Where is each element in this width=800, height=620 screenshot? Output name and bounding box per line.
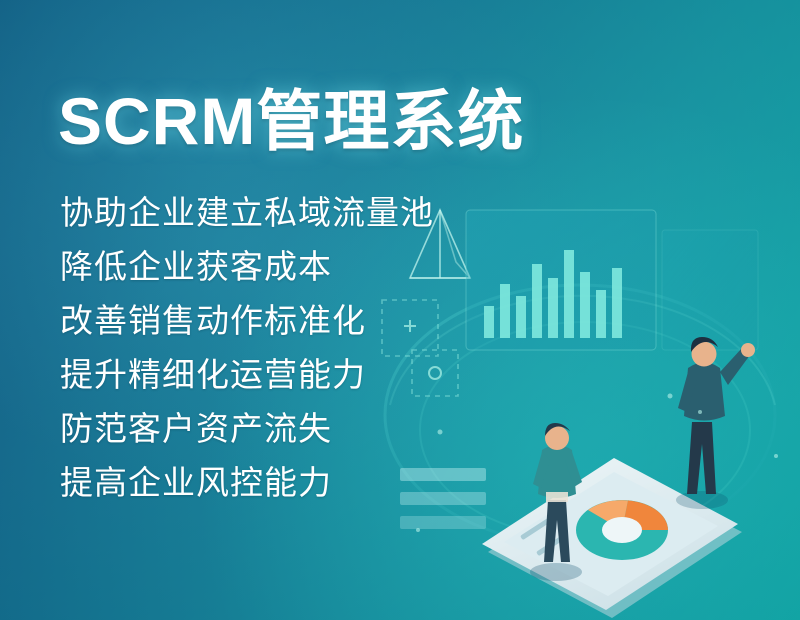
scrm-promo-banner: SCRM管理系统 协助企业建立私域流量池 降低企业获客成本 改善销售动作标准化 …: [0, 0, 800, 620]
feature-item: 协助企业建立私域流量池: [60, 196, 530, 229]
person-on-phone: [530, 423, 582, 581]
feature-item: 防范客户资产流失: [60, 412, 530, 445]
feature-list: 协助企业建立私域流量池 降低企业获客成本 改善销售动作标准化 提升精细化运营能力…: [60, 196, 530, 520]
donut-chart: [576, 500, 668, 560]
feature-item: 提高企业风控能力: [60, 466, 530, 499]
person-pointing: [676, 337, 755, 509]
banner-title: SCRM管理系统: [58, 88, 524, 154]
feature-item: 提升精细化运营能力: [60, 358, 530, 391]
side-panel: [662, 230, 758, 350]
feature-item: 降低企业获客成本: [60, 250, 530, 283]
feature-item: 改善销售动作标准化: [60, 304, 530, 337]
